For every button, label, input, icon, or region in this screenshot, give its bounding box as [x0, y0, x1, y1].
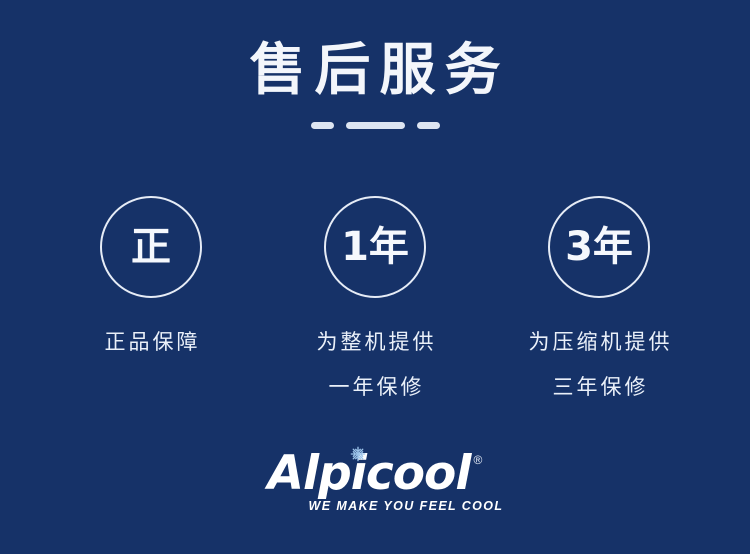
- divider-dash-left: [311, 122, 334, 129]
- badge-label: 3年: [565, 225, 633, 269]
- feature-item-one-year: 1年 为整机提供 一年保修: [263, 196, 487, 410]
- after-sales-service-banner: 售后服务 正 正品保障 1年 为整机提供 一年保修: [0, 0, 750, 554]
- feature-caption: 为压缩机提供 三年保修: [526, 320, 673, 410]
- feature-item-authentic: 正 正品保障: [39, 196, 263, 365]
- caption-line-2: 三年保修: [526, 365, 673, 410]
- page-title: 售后服务: [0, 38, 750, 104]
- title-block: 售后服务: [0, 38, 750, 104]
- divider-dash-right: [417, 122, 440, 129]
- caption-line-2: 一年保修: [314, 365, 437, 410]
- authentic-seal-circle: 正: [100, 196, 202, 298]
- registered-trademark-mark: ®: [473, 454, 482, 466]
- feature-list: 正 正品保障 1年 为整机提供 一年保修 3年 为压缩机提供 三年保修: [0, 196, 750, 410]
- one-year-warranty-circle: 1年: [324, 196, 426, 298]
- three-year-warranty-circle: 3年: [548, 196, 650, 298]
- caption-line-1: 正品保障: [102, 320, 201, 365]
- badge-label: 1年: [341, 225, 409, 269]
- logo-wordmark-row: Alpicool ®: [268, 448, 483, 500]
- badge-label: 正: [131, 225, 171, 269]
- caption-line-1: 为压缩机提供: [526, 320, 673, 365]
- decorative-divider: [0, 122, 750, 129]
- caption-line-1: 为整机提供: [314, 320, 437, 365]
- divider-dash-center: [346, 122, 405, 129]
- feature-item-three-year: 3年 为压缩机提供 三年保修: [487, 196, 711, 410]
- logo-wordmark: Alpicool: [268, 448, 471, 500]
- feature-caption: 为整机提供 一年保修: [314, 320, 437, 410]
- feature-caption: 正品保障: [102, 320, 201, 365]
- brand-logo: Alpicool ® WE MAKE YOU FEEL COOL: [0, 448, 750, 514]
